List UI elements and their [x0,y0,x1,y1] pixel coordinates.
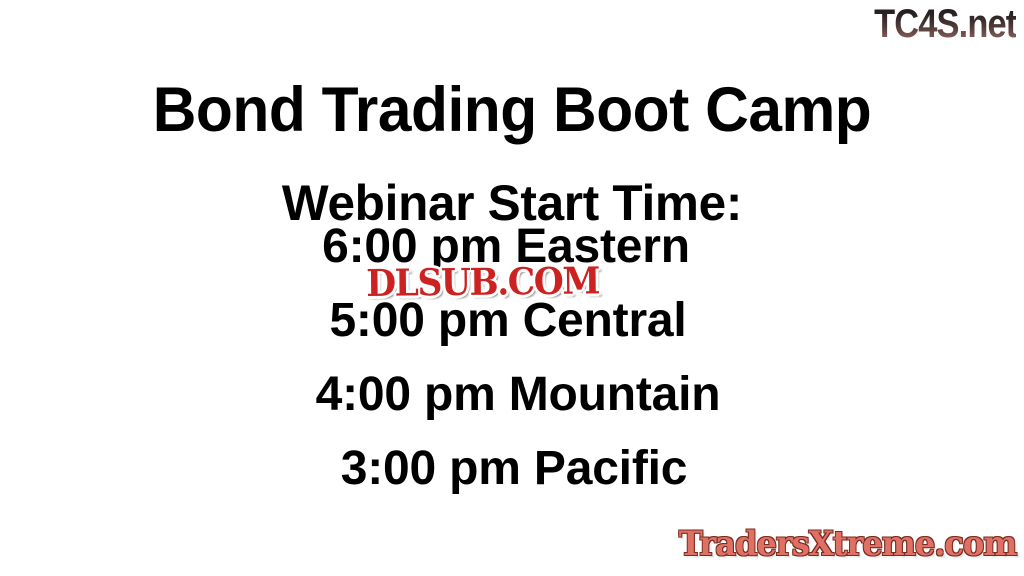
list-item-mountain: 4:00 pm Mountain [6,358,1024,432]
webinar-announcement-slide: TC4S.net Bond Trading Boot Camp Webinar … [0,0,1024,576]
tc4s-brand-logo: TC4S.net [874,2,1016,46]
page-title: Bond Trading Boot Camp [20,78,1003,142]
tradersxtreme-site-logo: TradersXtreme.com [678,526,1016,562]
timezone-list: 6:00 pm Eastern 5:00 pm Central 4:00 pm … [0,210,1024,506]
list-item-pacific: 3:00 pm Pacific [2,432,1024,506]
dlsub-watermark: DLSUB.COM [366,260,599,303]
